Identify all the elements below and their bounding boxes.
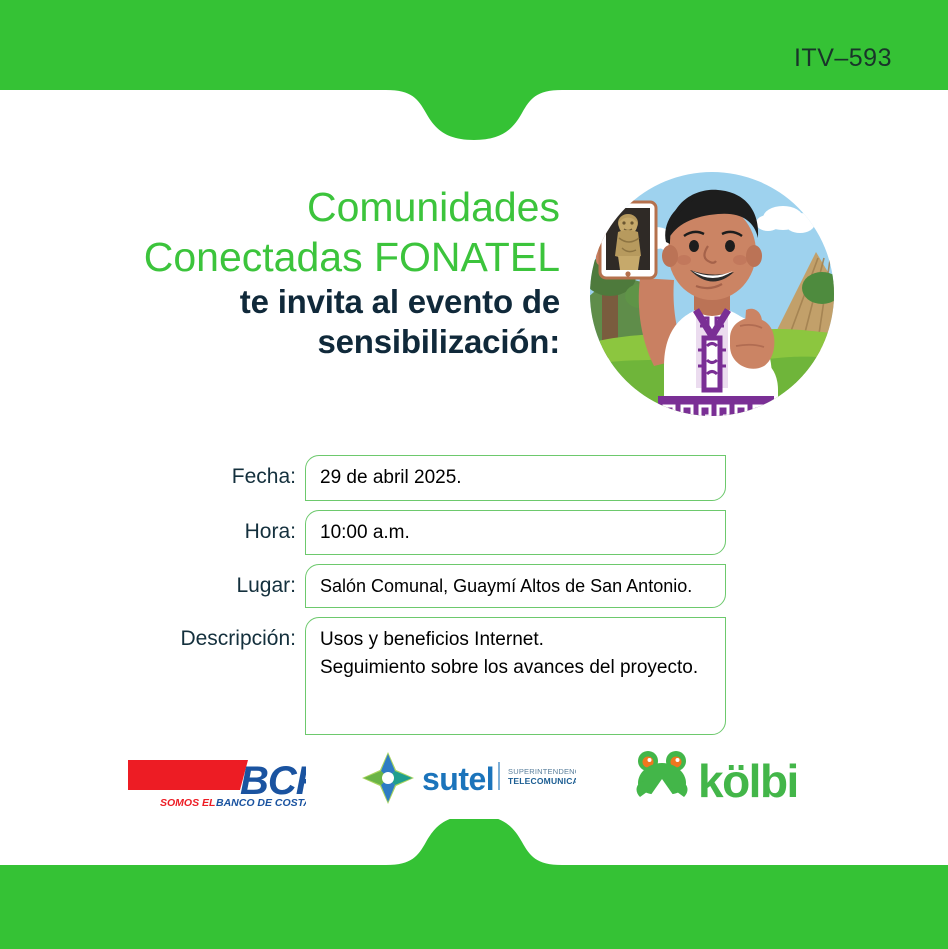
hem-pattern [658,396,774,428]
sutel-logo: sutel SUPERINTENDENCIA DE TELECOMUNICACI… [358,748,576,808]
field-row-time: Hora: 10:00 a.m. [0,510,948,556]
kolbi-logo: kölbi [628,747,824,809]
stone-statue-figure [615,214,641,270]
sutel-star-icon [362,752,414,804]
tablet-device [600,202,656,278]
field-value-time-line-1: 10:00 a.m. [320,519,713,547]
field-value-description-line-1: Usos y beneficios Internet. [320,626,713,654]
field-value-description[interactable]: Usos y beneficios Internet. Seguimiento … [305,617,726,735]
event-details-form: Fecha: 29 de abril 2025. Hora: 10:00 a.m… [0,455,948,744]
bcr-tagline-red: SOMOS EL [160,797,215,809]
field-label-place: Lugar: [0,564,305,596]
field-row-place: Lugar: Salón Comunal, Guaymí Altos de Sa… [0,564,948,608]
title-line-3: te invita al evento de [40,282,560,322]
header-code-label: ITV–593 [794,44,892,73]
field-value-place[interactable]: Salón Comunal, Guaymí Altos de San Anton… [305,564,726,608]
title-line-1: Comunidades [40,182,560,232]
hero-illustration-image [578,160,846,428]
hero-section: Comunidades Conectadas FONATEL te invita… [0,150,948,450]
field-row-description: Descripción: Usos y beneficios Internet.… [0,617,948,735]
kolbi-wordmark: kölbi [698,755,798,807]
field-value-date-line-1: 29 de abril 2025. [320,464,713,492]
sutel-sub-line-2: TELECOMUNICACIONES [508,776,576,786]
bcr-logo: BCR SOMOS EL BANCO DE COSTA RICA [124,746,306,810]
field-value-date[interactable]: 29 de abril 2025. [305,455,726,501]
field-value-description-line-2: Seguimiento sobre los avances del proyec… [320,654,713,682]
field-value-time[interactable]: 10:00 a.m. [305,510,726,556]
bcr-tagline-blue: BANCO DE COSTA RICA [216,797,306,809]
bottom-green-band [0,819,948,949]
sutel-wordmark: sutel [422,761,494,797]
field-label-date: Fecha: [0,455,305,487]
field-label-description: Descripción: [0,617,305,649]
sponsor-logos-row: BCR SOMOS EL BANCO DE COSTA RICA sutel S… [0,738,948,818]
top-green-band [0,0,948,148]
field-label-time: Hora: [0,510,305,542]
sutel-sub-line-1: SUPERINTENDENCIA DE [508,767,576,776]
title-line-4: sensibilización: [40,322,560,362]
field-row-date: Fecha: 29 de abril 2025. [0,455,948,501]
field-value-place-line-1: Salón Comunal, Guaymí Altos de San Anton… [320,573,713,599]
page-title: Comunidades Conectadas FONATEL te invita… [40,182,560,363]
frog-icon [637,751,688,799]
title-line-2: Conectadas FONATEL [40,232,560,282]
